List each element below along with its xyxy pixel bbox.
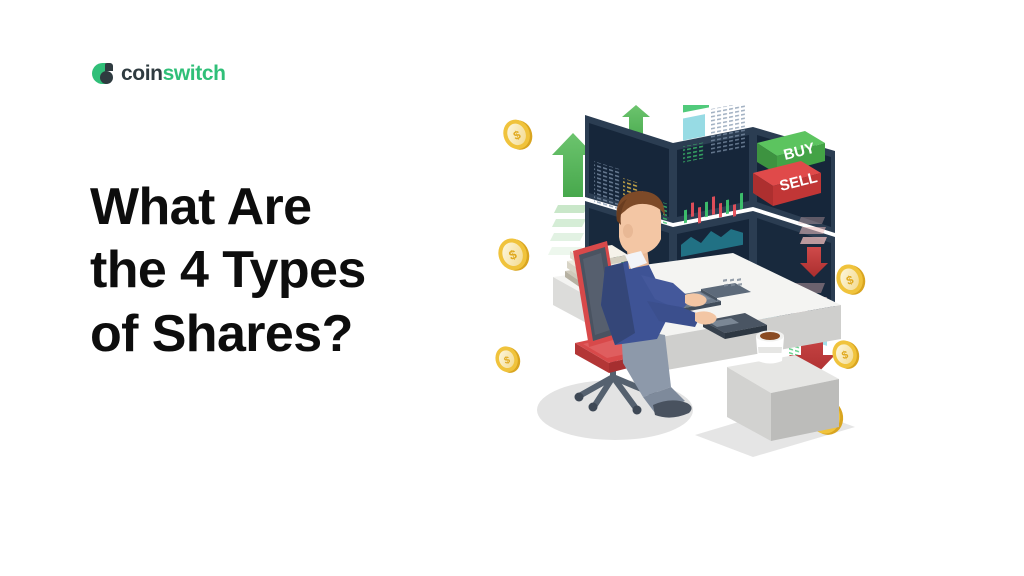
- coin-icon: $: [832, 260, 869, 299]
- brand-word-switch: switch: [163, 62, 226, 85]
- headline-line-2: the 4 Types: [90, 239, 490, 302]
- headline-line-3: of Shares?: [90, 303, 490, 366]
- stock-trader-workstation-illustration: BUY SELL: [495, 105, 885, 465]
- brand-logo[interactable]: coinswitch: [92, 59, 226, 87]
- coin-icon: $: [495, 343, 523, 377]
- coin-icon: $: [495, 234, 534, 276]
- headline-line-1: What Are: [90, 176, 490, 239]
- coin-icon: $: [499, 115, 537, 155]
- page-title: What Are the 4 Types of Shares?: [90, 176, 490, 366]
- coinswitch-logo-icon: [92, 63, 113, 84]
- brand-wordmark: coinswitch: [121, 63, 226, 84]
- coffee-cup: [756, 331, 784, 364]
- coin-icon: $: [829, 337, 863, 373]
- brand-word-coin: coin: [121, 62, 163, 85]
- banner-canvas: coinswitch What Are the 4 Types of Share…: [0, 0, 1024, 576]
